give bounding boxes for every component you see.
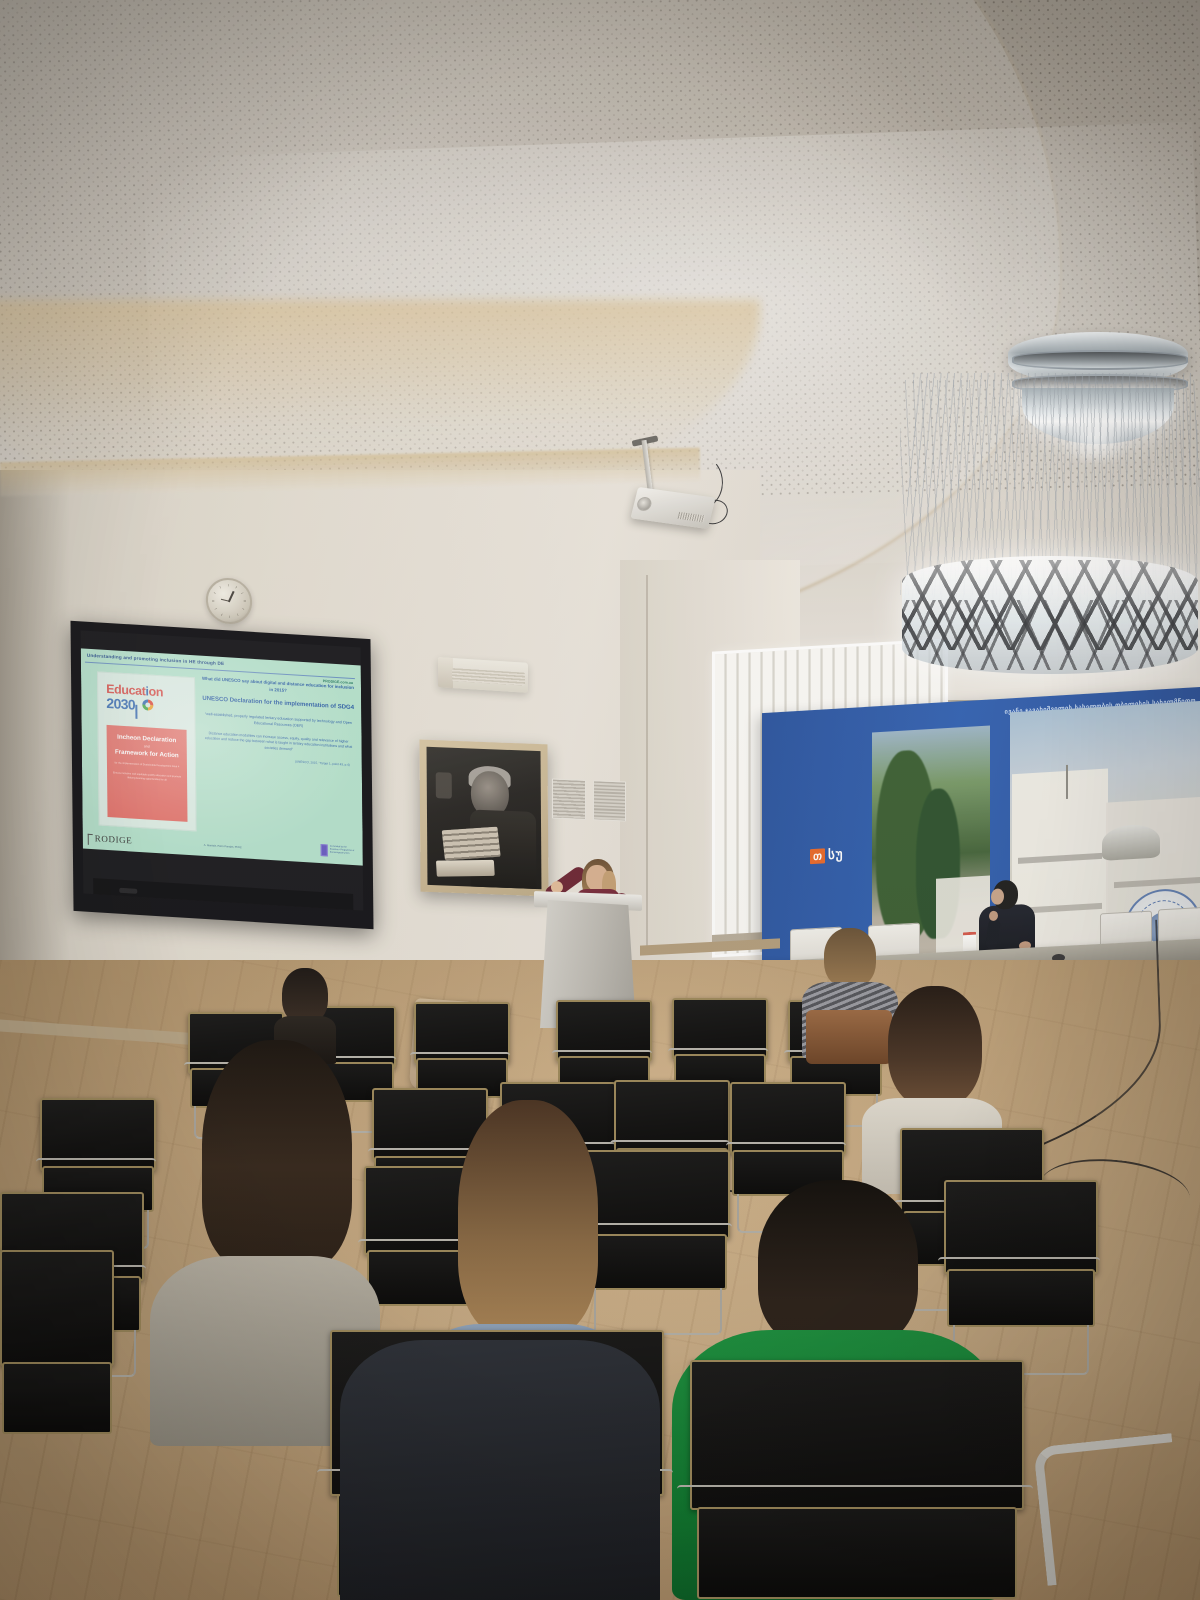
wall-vent-left bbox=[552, 778, 586, 819]
education-2030-logo: Education 2030 bbox=[106, 683, 186, 714]
audience-body bbox=[340, 1340, 660, 1600]
slide-author: A. Mantsia, Petro Parajan, PhDC bbox=[204, 844, 242, 849]
incheon-subtitle: for the implementation of Sustainable De… bbox=[109, 761, 186, 769]
chair-chrome-rail bbox=[1033, 1433, 1186, 1586]
projection-screen: Understanding and promoting inclusion in… bbox=[70, 621, 373, 930]
slide-footer: RODIGE A. Mantsia, Petro Parajan, PhDC C… bbox=[83, 822, 363, 861]
incheon-line-1: Incheon Declaration bbox=[117, 733, 176, 746]
slide-right-panel: What did UNESCO say about digital and di… bbox=[201, 676, 356, 767]
portrait-books bbox=[442, 827, 501, 861]
tsu-logo-box: თ bbox=[810, 848, 825, 864]
slide-title: UNESCO Declaration for the implementatio… bbox=[201, 695, 355, 713]
incheon-and: and bbox=[144, 745, 150, 749]
chandelier-crystal-ring bbox=[902, 556, 1198, 674]
portrait-lamp bbox=[436, 772, 452, 799]
incheon-subtitle-2: Ensure inclusive and equitable quality e… bbox=[107, 771, 187, 783]
chandelier bbox=[900, 320, 1200, 690]
audience-head bbox=[758, 1180, 918, 1350]
projection-screen-surface: Understanding and promoting inclusion in… bbox=[81, 630, 364, 910]
screen-pull-grip[interactable] bbox=[119, 888, 137, 894]
edu-logo-year: 2030 bbox=[106, 695, 135, 711]
eu-flag-icon bbox=[321, 844, 328, 856]
slide-quote: “well-established, properly regulated te… bbox=[201, 712, 355, 733]
wall-vent-right bbox=[593, 780, 627, 821]
tsu-logo-text: სუ bbox=[828, 846, 844, 863]
audience-head bbox=[888, 986, 982, 1108]
projector-lens-icon bbox=[636, 496, 653, 512]
slide-citation: (UNESCO, 2015, “Target 1, point 43, p.4) bbox=[202, 754, 356, 767]
ac-grill bbox=[452, 668, 525, 686]
presentation-slide: Understanding and promoting inclusion in… bbox=[81, 648, 363, 865]
banner-spire bbox=[1066, 765, 1068, 799]
projector-vent bbox=[677, 512, 704, 522]
chair-foreground-right[interactable] bbox=[690, 1360, 1020, 1600]
prodige-logo: RODIGE bbox=[95, 833, 133, 845]
screen-bottom-bar bbox=[93, 878, 353, 910]
eu-logo-label: Co-funded by the Erasmus+ Programme of t… bbox=[330, 846, 355, 856]
ac-side-cap bbox=[438, 657, 453, 688]
edu-logo-ring-icon bbox=[142, 699, 153, 711]
audience-person-dark-jacket bbox=[340, 1300, 660, 1600]
tsu-logo: თ სუ bbox=[810, 846, 844, 864]
incheon-line-2: Framework for Action bbox=[115, 748, 179, 761]
audience-head bbox=[202, 1040, 352, 1270]
erasmus-eu-logo: Co-funded by the Erasmus+ Programme of t… bbox=[321, 843, 355, 858]
clock-ticks bbox=[211, 584, 247, 619]
slide-left-panel: Education 2030 Incheon Declaration and F… bbox=[97, 671, 197, 831]
air-conditioner-unit bbox=[438, 657, 528, 693]
audience-head bbox=[824, 928, 876, 988]
incheon-declaration-box: Incheon Declaration and Framework for Ac… bbox=[107, 725, 188, 822]
wall-vents bbox=[552, 778, 626, 821]
portrait-open-book bbox=[436, 860, 495, 877]
slide-quote-2: Distance education modalities can increa… bbox=[202, 730, 356, 756]
edu-logo-on: on bbox=[148, 684, 163, 699]
conference-hall-photo: Understanding and promoting inclusion in… bbox=[0, 0, 1200, 1600]
edu-logo-bar bbox=[135, 704, 137, 718]
chandelier-ring-upper bbox=[1012, 350, 1188, 370]
chandelier-ring-shine bbox=[902, 556, 1198, 674]
chair-foreground-far-left[interactable] bbox=[0, 1250, 110, 1450]
